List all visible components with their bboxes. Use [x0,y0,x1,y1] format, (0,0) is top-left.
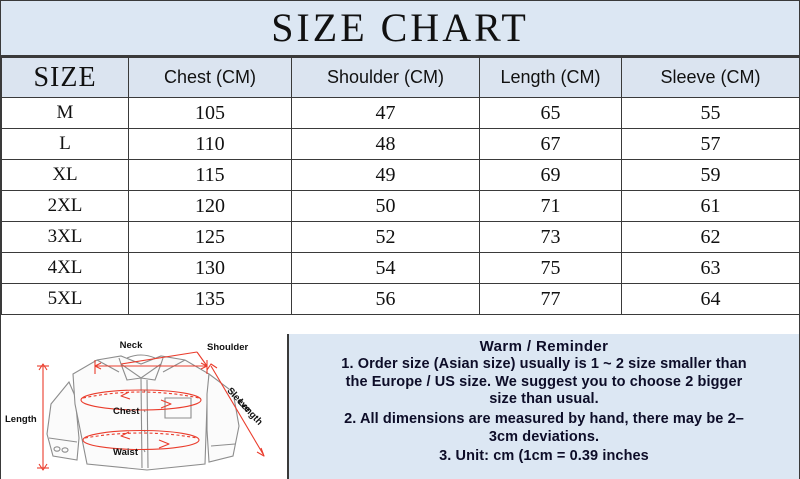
cell-shoulder: 52 [292,222,480,253]
cell-chest: 110 [129,129,292,160]
cell-size: M [2,98,129,129]
cell-chest: 125 [129,222,292,253]
table-row: M 105 47 65 55 [2,98,800,129]
cell-sleeve: 62 [622,222,800,253]
table-row: 3XL 125 52 73 62 [2,222,800,253]
cell-chest: 130 [129,253,292,284]
reminder-item-2-line-2: 3cm deviations. [344,429,744,447]
size-chart-root: SIZE CHART SIZE Chest (CM) Shoulder (CM)… [0,0,800,479]
reminder-item-1-line-3: size than usual. [341,391,746,409]
reminder-item-3-line-1: 3. Unit: cm (1cm = 0.39 inches [439,448,649,466]
diagram-label-chest: Chest [113,406,140,417]
column-header-shoulder: Shoulder (CM) [292,58,480,98]
table-row: 2XL 120 50 71 61 [2,191,800,222]
cell-length: 71 [480,191,622,222]
cell-sleeve: 61 [622,191,800,222]
diagram-label-shoulder: Shoulder [207,342,248,353]
table-row: XL 115 49 69 59 [2,160,800,191]
column-header-sleeve: Sleeve (CM) [622,58,800,98]
reminder-item-1-line-1: 1. Order size (Asian size) usually is 1 … [341,356,746,374]
cell-chest: 135 [129,284,292,315]
cell-size: XL [2,160,129,191]
diagram-label-length: Length [5,414,37,425]
shirt-measurement-diagram: Neck Shoulder Length Chest Waist Sleeve … [1,334,287,478]
cell-length: 73 [480,222,622,253]
cell-shoulder: 48 [292,129,480,160]
cell-size: 5XL [2,284,129,315]
cell-chest: 115 [129,160,292,191]
table-header-row: SIZE Chest (CM) Shoulder (CM) Length (CM… [2,58,800,98]
cell-length: 75 [480,253,622,284]
page-title: SIZE CHART [271,8,529,48]
diagram-label-waist: Waist [113,447,139,458]
reminder-item-2-line-1: 2. All dimensions are measured by hand, … [344,411,744,429]
cell-chest: 120 [129,191,292,222]
cell-length: 69 [480,160,622,191]
column-header-length: Length (CM) [480,58,622,98]
column-header-size: SIZE [2,58,129,98]
cell-shoulder: 49 [292,160,480,191]
table-row: 5XL 135 56 77 64 [2,284,800,315]
reminder-item-2: 2. All dimensions are measured by hand, … [344,411,744,446]
cell-length: 77 [480,284,622,315]
reminder-item-1-line-2: the Europe / US size. We suggest you to … [341,374,746,392]
cell-size: 3XL [2,222,129,253]
cell-length: 67 [480,129,622,160]
size-table: SIZE Chest (CM) Shoulder (CM) Length (CM… [1,57,800,315]
cell-shoulder: 54 [292,253,480,284]
diagram-label-sleeve-length-2: Length [235,397,265,428]
cell-shoulder: 47 [292,98,480,129]
column-header-chest: Chest (CM) [129,58,292,98]
chart-title-band: SIZE CHART [1,1,799,57]
table-row: L 110 48 67 57 [2,129,800,160]
warm-reminder-panel: Warm / Reminder 1. Order size (Asian siz… [289,334,799,479]
cell-sleeve: 64 [622,284,800,315]
cell-sleeve: 55 [622,98,800,129]
cell-length: 65 [480,98,622,129]
cell-size: L [2,129,129,160]
shirt-diagram-cell: Neck Shoulder Length Chest Waist Sleeve … [1,334,289,479]
cell-size: 4XL [2,253,129,284]
cell-chest: 105 [129,98,292,129]
cell-sleeve: 57 [622,129,800,160]
cell-shoulder: 50 [292,191,480,222]
bottom-section: Neck Shoulder Length Chest Waist Sleeve … [1,334,799,479]
cell-sleeve: 59 [622,160,800,191]
cell-sleeve: 63 [622,253,800,284]
cell-shoulder: 56 [292,284,480,315]
cell-size: 2XL [2,191,129,222]
table-row: 4XL 130 54 75 63 [2,253,800,284]
reminder-title: Warm / Reminder [480,338,609,355]
diagram-label-neck: Neck [120,340,143,351]
reminder-item-1: 1. Order size (Asian size) usually is 1 … [341,356,746,409]
reminder-item-3: 3. Unit: cm (1cm = 0.39 inches [439,448,649,466]
